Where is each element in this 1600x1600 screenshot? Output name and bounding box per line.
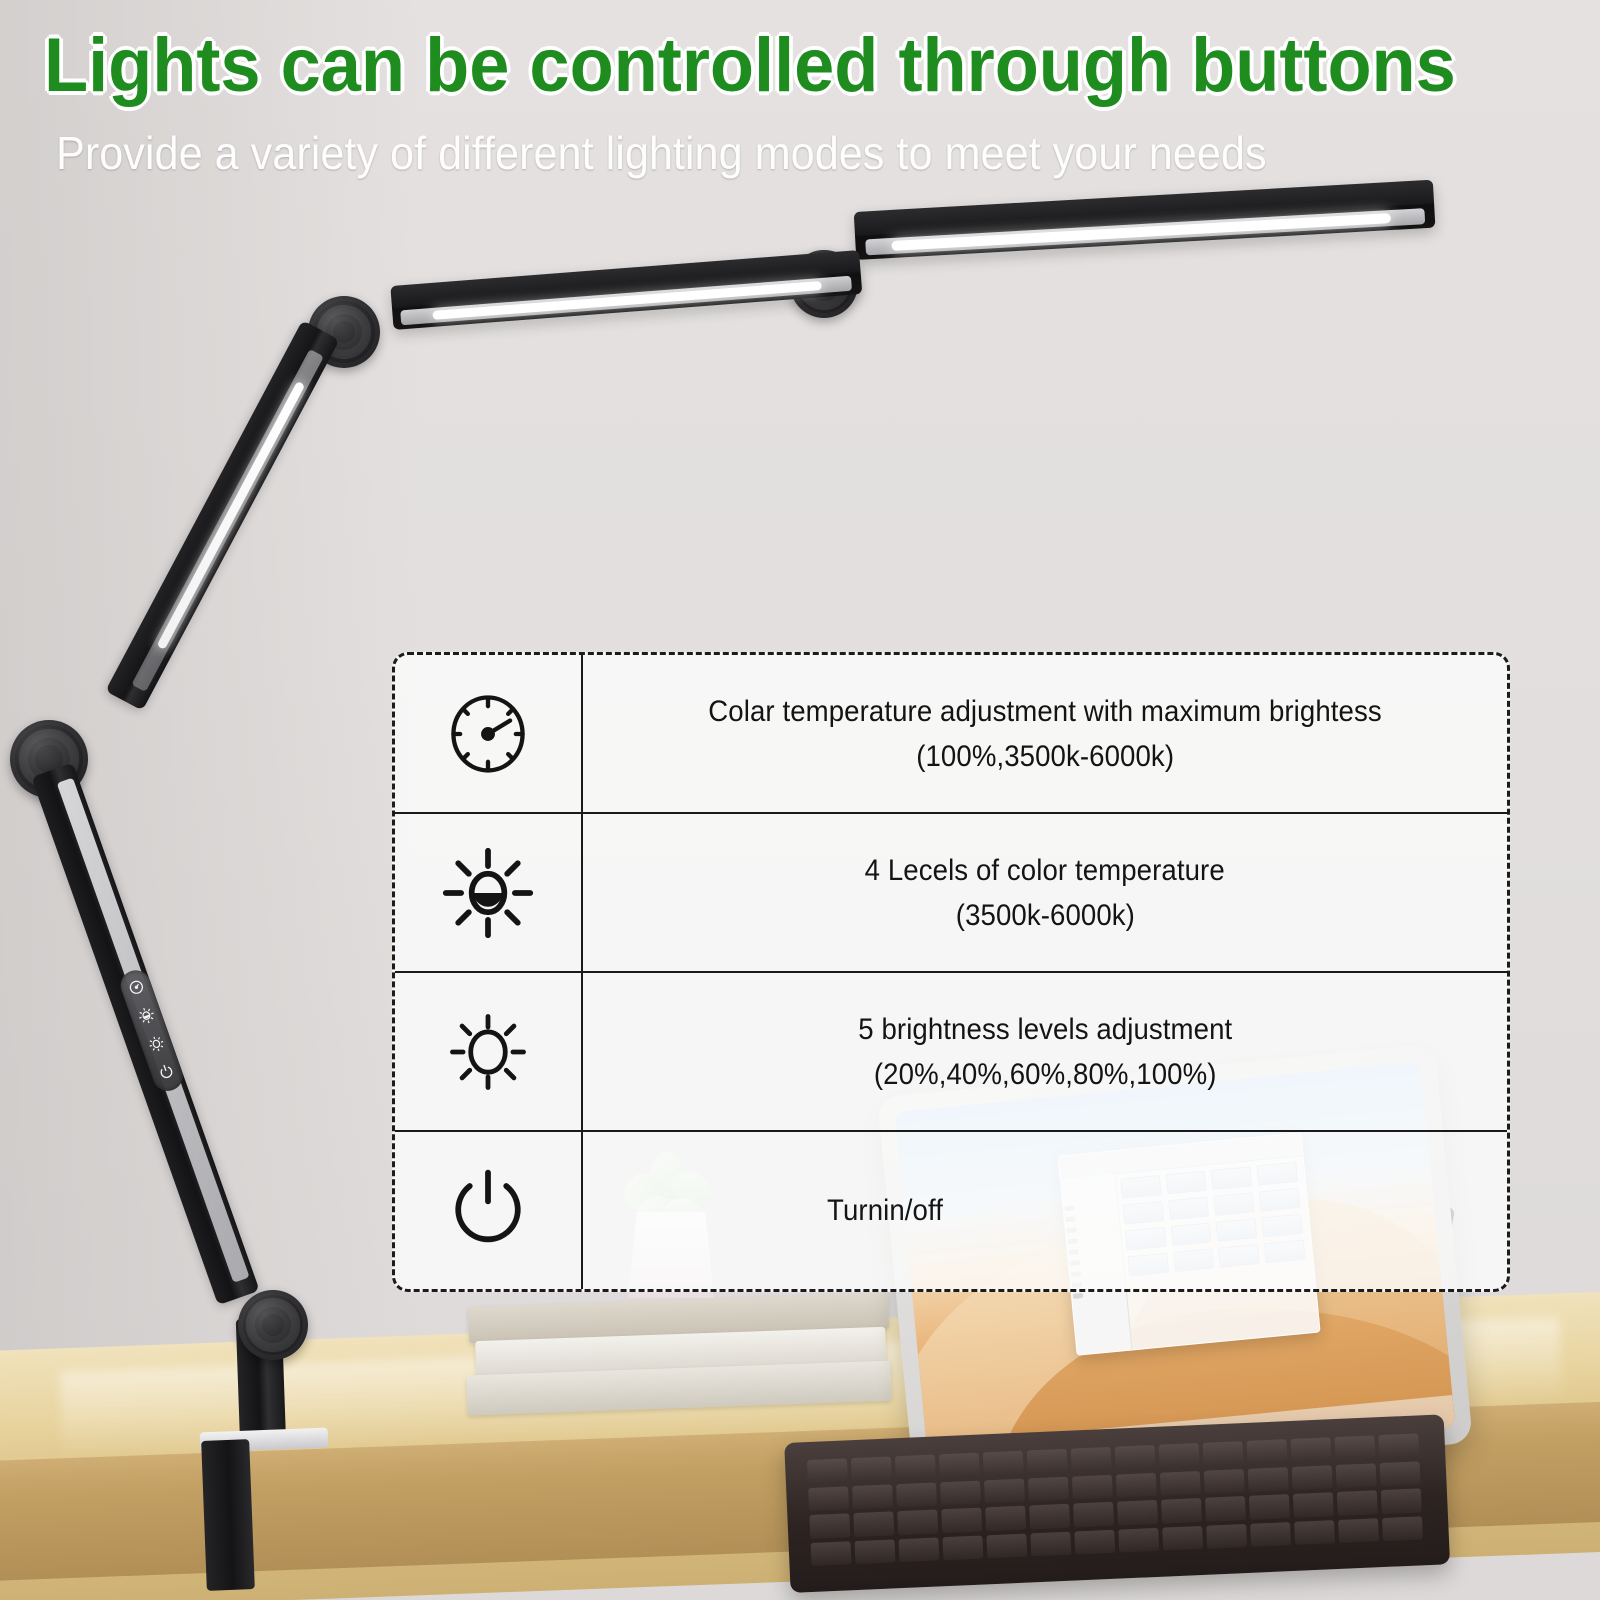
dial-icon[interactable]	[125, 976, 148, 999]
feature-line-1: Turnin/off	[827, 1188, 943, 1233]
product-scene: Colar temperature adjustment with maximu…	[0, 0, 1600, 1600]
lamp-base-hub[interactable]	[238, 1290, 308, 1360]
feature-line-1: Colar temperature adjustment with maximu…	[708, 689, 1381, 734]
power-icon	[395, 1132, 583, 1289]
feature-row: Turnin/off	[395, 1132, 1507, 1289]
sun-half-icon	[395, 814, 583, 971]
page-title: Lights can be controlled through buttons	[44, 28, 1507, 104]
power-icon[interactable]	[155, 1061, 178, 1084]
page-subtitle: Provide a variety of different lighting …	[56, 128, 1466, 179]
sun-half-icon[interactable]	[135, 1004, 158, 1027]
book-stack	[468, 1293, 892, 1426]
feature-line-1: 4 Lecels of color temperature	[865, 848, 1225, 893]
feature-table: Colar temperature adjustment with maximu…	[392, 652, 1510, 1292]
feature-row: Colar temperature adjustment with maximu…	[395, 655, 1507, 814]
feature-line-1: 5 brightness levels adjustment	[858, 1007, 1232, 1052]
sun-brightness-icon[interactable]	[145, 1032, 168, 1055]
feature-line-2: (3500k-6000k)	[955, 893, 1134, 938]
feature-text: 5 brightness levels adjustment (20%,40%,…	[583, 973, 1507, 1130]
lamp-clamp-body	[201, 1439, 255, 1591]
sun-brightness-icon	[395, 973, 583, 1130]
dial-icon	[395, 655, 583, 812]
feature-text: Turnin/off	[583, 1132, 1507, 1289]
feature-row: 4 Lecels of color temperature (3500k-600…	[395, 814, 1507, 973]
feature-line-2: (100%,3500k-6000k)	[916, 734, 1174, 779]
feature-line-2: (20%,40%,60%,80%,100%)	[874, 1052, 1217, 1097]
feature-text: Colar temperature adjustment with maximu…	[583, 655, 1507, 812]
feature-row: 5 brightness levels adjustment (20%,40%,…	[395, 973, 1507, 1132]
tablet-keyboard	[784, 1414, 1450, 1593]
feature-text: 4 Lecels of color temperature (3500k-600…	[583, 814, 1507, 971]
